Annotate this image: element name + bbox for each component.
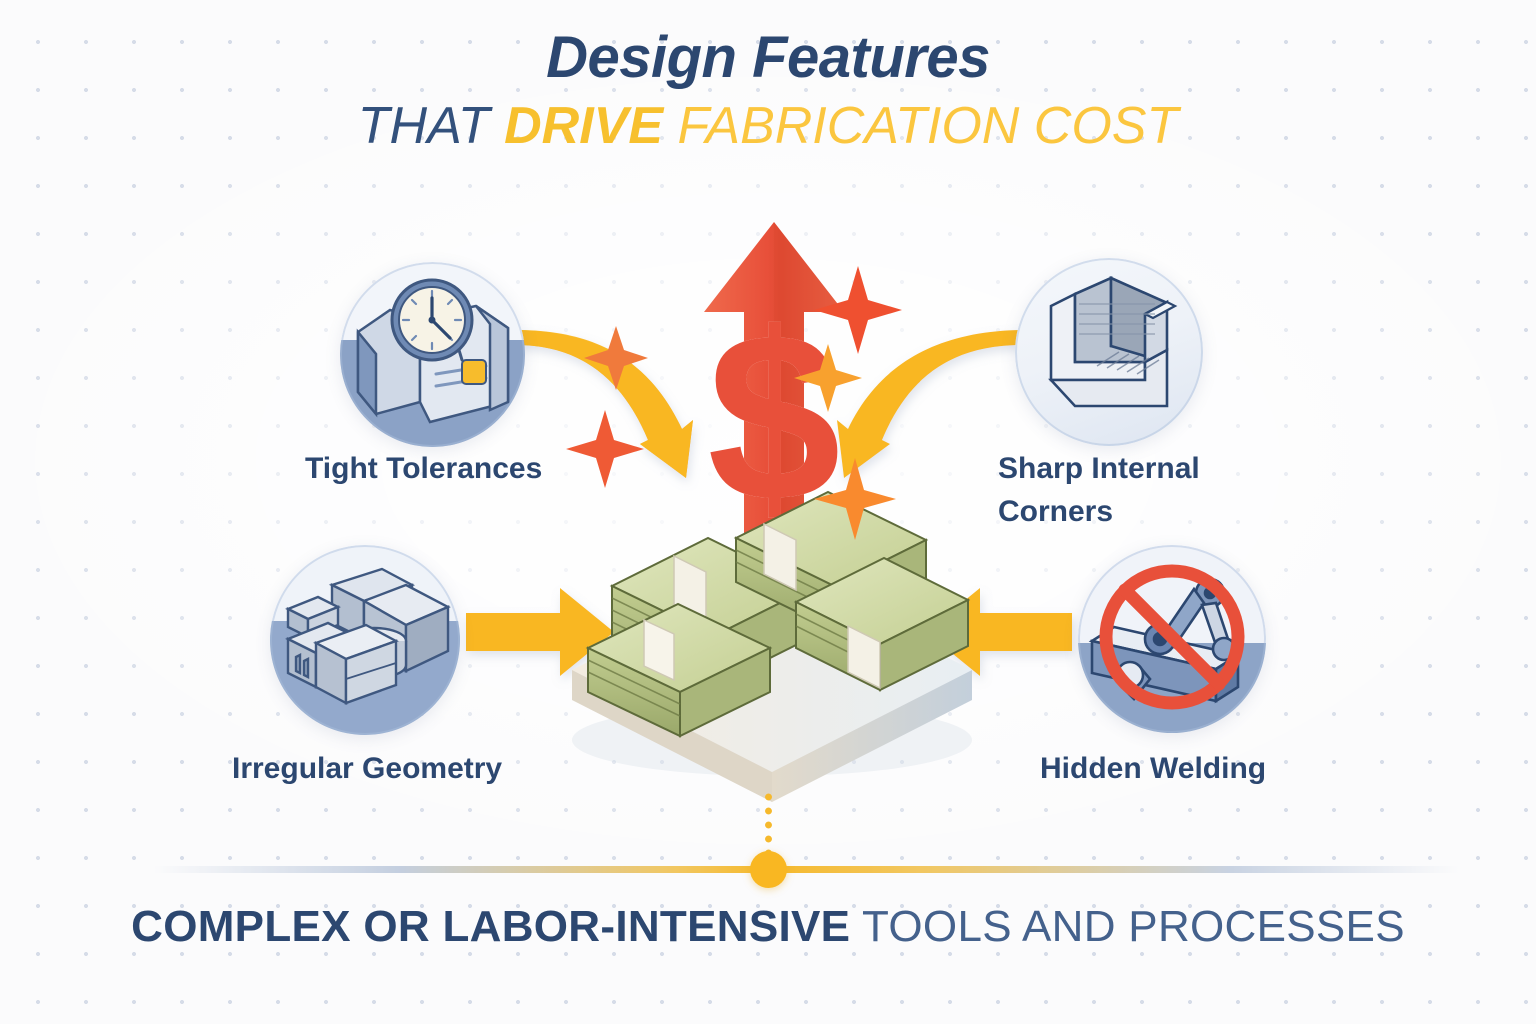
feature-label-line2: Corners (998, 491, 1288, 534)
icon-ring (1015, 258, 1203, 446)
footer-bold-text: COMPLEX OR LABOR-INTENSIVE (131, 902, 850, 951)
u-channel-profile-icon[interactable] (1015, 258, 1203, 446)
feature-label-sharp-internal-corners: Sharp Internal Corners (998, 448, 1288, 533)
icon-ring (1078, 545, 1266, 733)
feature-label-irregular-geometry: Irregular Geometry (232, 748, 562, 791)
footer-light-text: TOOLS AND PROCESSES (850, 902, 1405, 951)
footer-caption: COMPLEX OR LABOR-INTENSIVE TOOLS AND PRO… (0, 902, 1536, 951)
icon-ring (270, 545, 460, 735)
dotted-connector (764, 790, 773, 852)
divider-node-dot (750, 851, 787, 888)
feature-label-tight-tolerances: Tight Tolerances (305, 448, 585, 491)
icon-ring (340, 262, 525, 447)
feature-label-line1: Sharp Internal (998, 448, 1288, 491)
infographic-canvas: Design Features THAT DRIVE FABRICATION C… (0, 0, 1536, 1024)
irregular-blocks-icon[interactable] (270, 545, 460, 735)
sparkle-orange-small (584, 326, 648, 390)
clock-gauge-machine-icon[interactable] (340, 262, 525, 447)
robot-arm-prohibited-icon[interactable] (1078, 545, 1266, 733)
feature-label-hidden-welding: Hidden Welding (1040, 748, 1340, 791)
center-cost-graphic: $ $ $ $ (548, 200, 988, 820)
